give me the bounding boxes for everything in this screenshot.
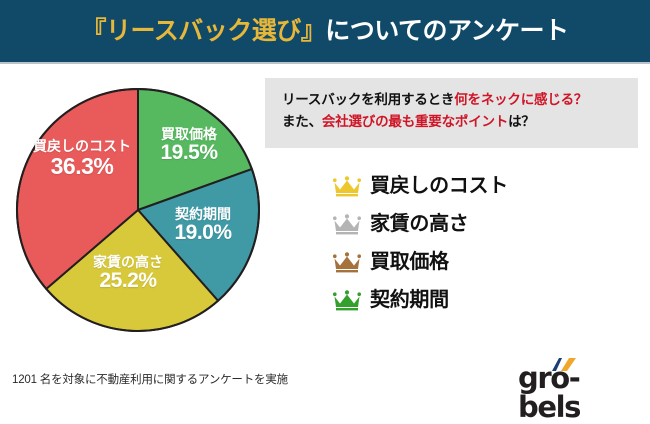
pie-label-value: 36.3% (27, 154, 137, 179)
question-line-1-text: リースバックを利用するとき (282, 92, 454, 107)
crown-icon-green (333, 290, 361, 311)
pie-label-buymodoshi: 買戻しのコスト 36.3% (27, 139, 137, 179)
pie-label-keiyakukikan: 契約期間 19.0% (155, 207, 251, 244)
question-box: リースバックを利用するとき何をネックに感じる？ また、会社選びの最も重要なポイン… (265, 78, 638, 148)
gro-bels-logo: gro-bels (518, 358, 638, 394)
pie-label-value: 19.5% (141, 142, 237, 164)
ranking-row: 契約期間 (333, 281, 643, 319)
question-line-2-text: また、 (282, 114, 322, 129)
logo-wordmark: gro-bels (518, 364, 638, 422)
question-line-1-accent: 何をネックに感じる？ (454, 92, 587, 107)
crown-icon-bronze (333, 252, 361, 273)
page-title-highlight: 『リースバック選び』 (81, 17, 325, 45)
pie-label-kaitorikakaku: 買取価格 19.5% (141, 127, 237, 164)
pie-label-yachin: 家賃の高さ 25.2% (73, 255, 183, 292)
survey-footnote: 1201 名を対象に不動産利用に関するアンケートを実施 (12, 371, 288, 387)
infographic-root: 『リースバック選び』についてのアンケート 買戻しのコスト 36.3% 買取価格 … (0, 0, 650, 400)
ranking-label: 契約期間 (370, 290, 449, 310)
ranking-label: 家賃の高さ (370, 214, 469, 234)
header-divider (0, 62, 650, 64)
crown-icon-gold (333, 176, 361, 197)
ranking-row: 家賃の高さ (333, 205, 643, 243)
ranking-list: 買戻しのコスト家賃の高さ買取価格契約期間 (333, 167, 643, 319)
question-line-2-accent: 会社選びの最も重要なポイント (322, 114, 508, 129)
crown-icon-silver (333, 214, 361, 235)
page-title: 『リースバック選び』についてのアンケート (81, 19, 568, 44)
ranking-label: 買取価格 (370, 252, 449, 272)
page-title-plain: についてのアンケート (325, 17, 568, 45)
pie-label-value: 19.0% (155, 222, 251, 244)
header-bar: 『リースバック選び』についてのアンケート (0, 0, 650, 62)
pie-label-name: 買戻しのコスト (27, 139, 137, 154)
ranking-label: 買戻しのコスト (370, 176, 508, 196)
question-line-2: また、会社選びの最も重要なポイントは？ (282, 111, 638, 133)
ranking-row: 買取価格 (333, 243, 643, 281)
pie-label-name: 家賃の高さ (73, 255, 183, 270)
pie-chart: 買戻しのコスト 36.3% 買取価格 19.5% 契約期間 19.0% 家賃の高… (15, 87, 261, 333)
question-line-2-tail: は？ (508, 114, 535, 129)
pie-label-value: 25.2% (73, 270, 183, 292)
ranking-row: 買戻しのコスト (333, 167, 643, 205)
pie-label-name: 契約期間 (155, 207, 251, 222)
question-line-1: リースバックを利用するとき何をネックに感じる？ (282, 89, 638, 111)
pie-label-name: 買取価格 (141, 127, 237, 142)
